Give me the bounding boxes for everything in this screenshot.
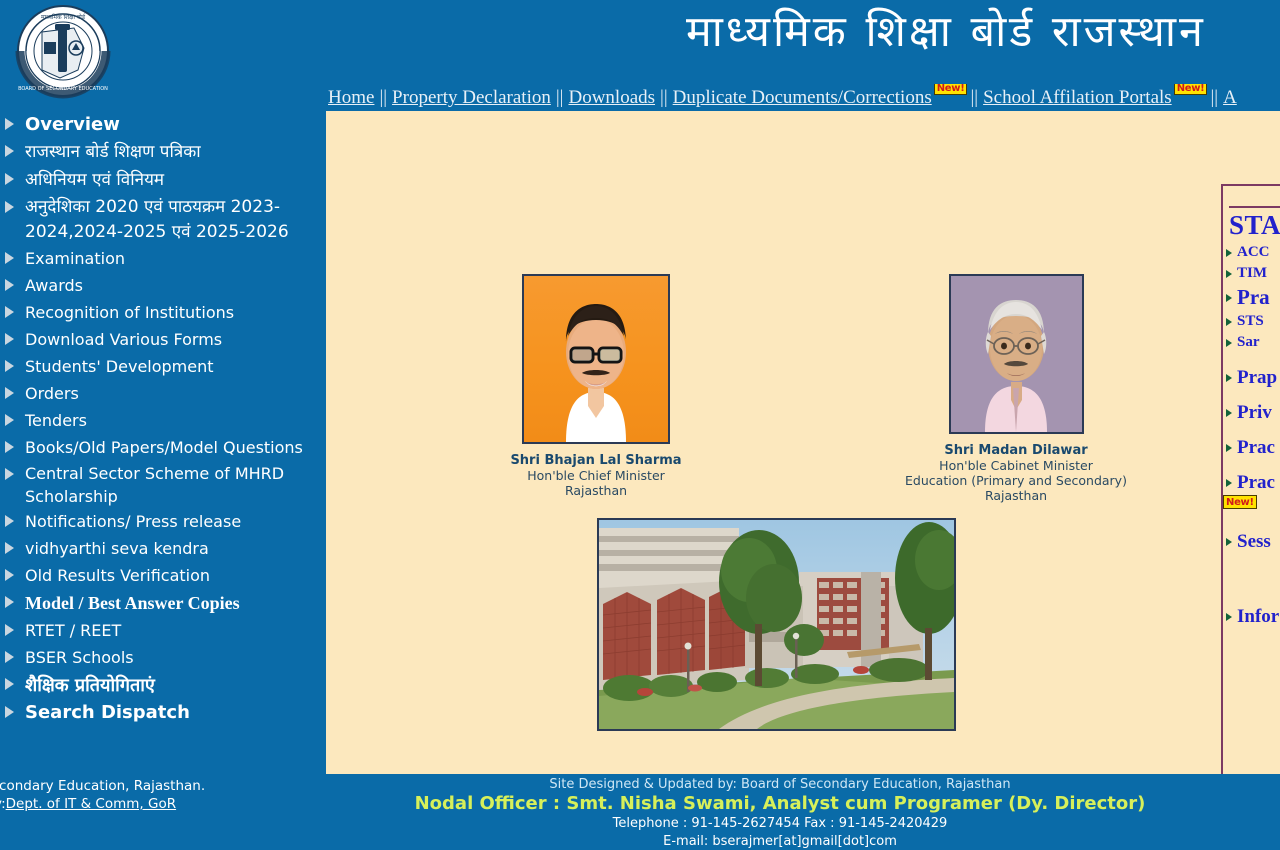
- sidebar-item-4[interactable]: अनुदेशिका 2020 एवं पाठयक्रम 2023-2024,20…: [0, 195, 326, 245]
- triangle-right-icon: [5, 387, 14, 399]
- right-panel-item-10[interactable]: Sess: [1223, 529, 1280, 554]
- triangle-right-icon: [5, 624, 14, 636]
- triangle-right-icon: [1226, 374, 1232, 382]
- sidebar-item-2[interactable]: राजस्थान बोर्ड शिक्षण पत्रिका: [0, 139, 326, 166]
- nav-item-duplicate-documents-corrections[interactable]: Duplicate Documents/Corrections: [671, 87, 934, 108]
- right-panel-item-4[interactable]: STS: [1223, 311, 1280, 332]
- triangle-right-icon: [5, 468, 14, 480]
- triangle-right-icon: [5, 306, 14, 318]
- right-panel-item-label: ACC: [1237, 244, 1270, 260]
- sidebar-item-label: Model / Best Answer Copies: [25, 590, 320, 617]
- nav-separator: ||: [657, 87, 671, 108]
- main-navigation[interactable]: Home||Property Declaration||Downloads||D…: [326, 84, 1280, 111]
- right-panel-item-2[interactable]: TIM: [1223, 263, 1280, 284]
- triangle-right-icon: [1226, 318, 1232, 326]
- footer-nodal-officer: Nodal Officer : Smt. Nisha Swami, Analys…: [280, 793, 1280, 815]
- sidebar-item-label: Central Sector Scheme of MHRD Scholarshi…: [25, 462, 320, 508]
- triangle-right-icon: [5, 542, 14, 554]
- sidebar-item-label: Search Dispatch: [25, 700, 320, 726]
- sidebar-item-label: Recognition of Institutions: [25, 300, 320, 326]
- triangle-right-icon: [5, 678, 14, 690]
- footer-center-text: Site Designed & Updated by: Board of Sec…: [280, 776, 1280, 850]
- sidebar-item-16[interactable]: Old Results Verification: [0, 563, 326, 589]
- triangle-right-icon: [5, 414, 14, 426]
- sidebar-item-label: RTET / REET: [25, 618, 320, 644]
- triangle-right-icon: [5, 118, 14, 130]
- triangle-right-icon: [5, 252, 14, 264]
- nav-item-home[interactable]: Home: [326, 87, 376, 108]
- education-minister-name: Shri Madan Dilawar: [886, 443, 1146, 458]
- right-panel-item-label: Sess: [1237, 531, 1271, 552]
- triangle-right-icon: [5, 596, 14, 608]
- chief-minister-state: Rajasthan: [481, 483, 711, 498]
- building-block: [597, 518, 956, 735]
- nav-item-a[interactable]: A: [1221, 87, 1239, 108]
- new-badge-wrapper: New!: [1223, 495, 1280, 515]
- site-header: माध्यमिक शिक्षा बोर्ड BOARD OF SECONDARY…: [0, 0, 1280, 82]
- sidebar-item-label: अनुदेशिका 2020 एवं पाठयक्रम 2023-2024,20…: [25, 195, 320, 245]
- footer-telephone: Telephone : 91-145-2627454 Fax : 91-145-…: [280, 815, 1280, 833]
- sidebar-item-label: Awards: [25, 273, 320, 299]
- triangle-right-icon: [1226, 613, 1232, 621]
- right-panel-header-box: [1229, 188, 1280, 208]
- chief-minister-photo: [522, 274, 670, 444]
- left-sidebar-menu[interactable]: Overviewराजस्थान बोर्ड शिक्षण पत्रिकाअधि…: [0, 112, 326, 774]
- chief-minister-name: Shri Bhajan Lal Sharma: [481, 453, 711, 468]
- sidebar-item-12[interactable]: Books/Old Papers/Model Questions: [0, 435, 326, 461]
- sidebar-item-10[interactable]: Orders: [0, 381, 326, 407]
- right-panel-link-list[interactable]: ACCTIMPraSTSSarPrapPrivPracPracNew!SessI…: [1223, 242, 1280, 629]
- site-footer: d of Secondary Education, Rajasthan. ste…: [0, 774, 1280, 850]
- svg-text:माध्यमिक शिक्षा बोर्ड: माध्यमिक शिक्षा बोर्ड: [41, 13, 86, 21]
- right-panel-item-6[interactable]: Prap: [1223, 365, 1280, 390]
- sidebar-item-label: राजस्थान बोर्ड शिक्षण पत्रिका: [25, 139, 320, 166]
- sidebar-item-label: Download Various Forms: [25, 327, 320, 353]
- sidebar-item-5[interactable]: Examination: [0, 246, 326, 272]
- nav-separator: ||: [376, 87, 390, 108]
- education-minister-state: Rajasthan: [886, 488, 1146, 503]
- sidebar-item-21[interactable]: Search Dispatch: [0, 700, 326, 726]
- sidebar-item-17[interactable]: Model / Best Answer Copies: [0, 590, 326, 617]
- sidebar-item-label: BSER Schools: [25, 645, 320, 671]
- sidebar-item-label: Old Results Verification: [25, 563, 320, 589]
- triangle-right-icon: [5, 569, 14, 581]
- triangle-right-icon: [1226, 339, 1232, 347]
- page-title: माध्यमिक शिक्षा बोर्ड राजस्थान: [686, 4, 1206, 60]
- triangle-right-icon: [1226, 294, 1232, 302]
- education-minister-designation: Hon'ble Cabinet Minister: [886, 458, 1146, 473]
- triangle-right-icon: [5, 333, 14, 345]
- sidebar-item-label: शैक्षिक प्रतियोगिताएं: [25, 672, 320, 699]
- right-side-panel: STA ACCTIMPraSTSSarPrapPrivPracPracNew!S…: [1221, 184, 1280, 784]
- triangle-right-icon: [1226, 270, 1232, 278]
- triangle-right-icon: [1226, 538, 1232, 546]
- right-panel-item-label: Prap: [1237, 367, 1277, 388]
- sidebar-item-8[interactable]: Download Various Forms: [0, 327, 326, 353]
- sidebar-item-3[interactable]: अधिनियम एवं विनियम: [0, 167, 326, 194]
- main-content-area: Shri Bhajan Lal Sharma Hon'ble Chief Min…: [326, 111, 1280, 774]
- footer-email: E-mail: bserajmer[at]gmail[dot]com: [280, 833, 1280, 850]
- right-panel-item-label: Pra: [1237, 285, 1270, 309]
- right-panel-item-label: Priv: [1237, 402, 1272, 423]
- page-root: माध्यमिक शिक्षा बोर्ड BOARD OF SECONDARY…: [0, 0, 1280, 850]
- right-panel-item-7[interactable]: Priv: [1223, 400, 1280, 425]
- right-panel-item-label: Infor: [1237, 606, 1279, 627]
- sidebar-item-label: Overview: [25, 112, 320, 138]
- sidebar-item-label: Tenders: [25, 408, 320, 434]
- sidebar-item-15[interactable]: vidhyarthi seva kendra: [0, 536, 326, 562]
- sidebar-item-9[interactable]: Students' Development: [0, 354, 326, 380]
- nav-separator: ||: [967, 87, 981, 108]
- triangle-right-icon: [5, 515, 14, 527]
- triangle-right-icon: [1226, 479, 1232, 487]
- triangle-right-icon: [1226, 249, 1232, 257]
- education-minister-portfolio: Education (Primary and Secondary): [886, 473, 1146, 488]
- triangle-right-icon: [5, 173, 14, 185]
- new-badge: New!: [1174, 84, 1208, 95]
- right-panel-item-label: TIM: [1237, 265, 1267, 281]
- footer-designed-by: Site Designed & Updated by: Board of Sec…: [280, 776, 1280, 793]
- triangle-right-icon: [5, 145, 14, 157]
- sidebar-item-7[interactable]: Recognition of Institutions: [0, 300, 326, 326]
- sidebar-item-19[interactable]: BSER Schools: [0, 645, 326, 671]
- triangle-right-icon: [5, 706, 14, 718]
- education-minister-photo: [949, 274, 1084, 434]
- right-panel-item-8[interactable]: Prac: [1223, 435, 1280, 460]
- nav-separator: ||: [553, 87, 567, 108]
- nav-item-school-affilation-portals[interactable]: School Affilation Portals: [981, 87, 1174, 108]
- sidebar-item-label: अधिनियम एवं विनियम: [25, 167, 320, 194]
- sidebar-item-18[interactable]: RTET / REET: [0, 618, 326, 644]
- nav-item-downloads[interactable]: Downloads: [566, 87, 657, 108]
- sidebar-item-14[interactable]: Notifications/ Press release: [0, 509, 326, 535]
- sidebar-item-label: Orders: [25, 381, 320, 407]
- right-panel-item-9[interactable]: Prac: [1223, 470, 1280, 495]
- right-panel-item-label: Sar: [1237, 334, 1260, 350]
- sidebar-item-label: Students' Development: [25, 354, 320, 380]
- right-panel-item-label: STS: [1237, 313, 1264, 329]
- right-panel-title: STA: [1223, 208, 1280, 242]
- right-panel-item-label: Prac: [1237, 472, 1275, 493]
- sidebar-item-20[interactable]: शैक्षिक प्रतियोगिताएं: [0, 672, 326, 699]
- triangle-right-icon: [5, 651, 14, 663]
- triangle-right-icon: [5, 279, 14, 291]
- sidebar-item-13[interactable]: Central Sector Scheme of MHRD Scholarshi…: [0, 462, 326, 508]
- chief-minister-designation: Hon'ble Chief Minister: [481, 468, 711, 483]
- bser-board-building-photo: [597, 518, 956, 731]
- bser-emblem-icon: माध्यमिक शिक्षा बोर्ड BOARD OF SECONDARY…: [8, 2, 118, 106]
- right-panel-item-3[interactable]: Pra: [1223, 284, 1280, 311]
- right-panel-item-5[interactable]: Sar: [1223, 332, 1280, 353]
- education-minister-block: Shri Madan Dilawar Hon'ble Cabinet Minis…: [886, 274, 1146, 503]
- new-badge: New!: [934, 84, 968, 95]
- triangle-right-icon: [1226, 444, 1232, 452]
- triangle-right-icon: [5, 201, 14, 213]
- nav-separator: ||: [1207, 87, 1221, 108]
- triangle-right-icon: [5, 360, 14, 372]
- nav-item-property-declaration[interactable]: Property Declaration: [390, 87, 553, 108]
- chief-minister-block: Shri Bhajan Lal Sharma Hon'ble Chief Min…: [481, 274, 711, 498]
- right-panel-item-1[interactable]: ACC: [1223, 242, 1280, 263]
- footer-left-text: d of Secondary Education, Rajasthan. ste…: [0, 777, 282, 813]
- sidebar-item-6[interactable]: Awards: [0, 273, 326, 299]
- sidebar-item-label: Books/Old Papers/Model Questions: [25, 435, 320, 461]
- sidebar-item-label: Notifications/ Press release: [25, 509, 320, 535]
- triangle-right-icon: [5, 441, 14, 453]
- svg-text:BOARD OF SECONDARY EDUCATION: BOARD OF SECONDARY EDUCATION: [18, 86, 108, 92]
- triangle-right-icon: [1226, 409, 1232, 417]
- sidebar-item-label: vidhyarthi seva kendra: [25, 536, 320, 562]
- sidebar-item-1[interactable]: Overview: [0, 112, 326, 138]
- new-badge: New!: [1223, 495, 1257, 509]
- right-panel-item-11[interactable]: Infor: [1223, 604, 1280, 629]
- footer-hosted-link[interactable]: Dept. of IT & Comm, GoR: [6, 796, 176, 812]
- sidebar-item-label: Examination: [25, 246, 320, 272]
- right-panel-item-label: Prac: [1237, 437, 1275, 458]
- footer-copyright-line: d of Secondary Education, Rajasthan.: [0, 777, 282, 795]
- sidebar-item-11[interactable]: Tenders: [0, 408, 326, 434]
- footer-hosted-line: sted by:Dept. of IT & Comm, GoR: [0, 795, 282, 813]
